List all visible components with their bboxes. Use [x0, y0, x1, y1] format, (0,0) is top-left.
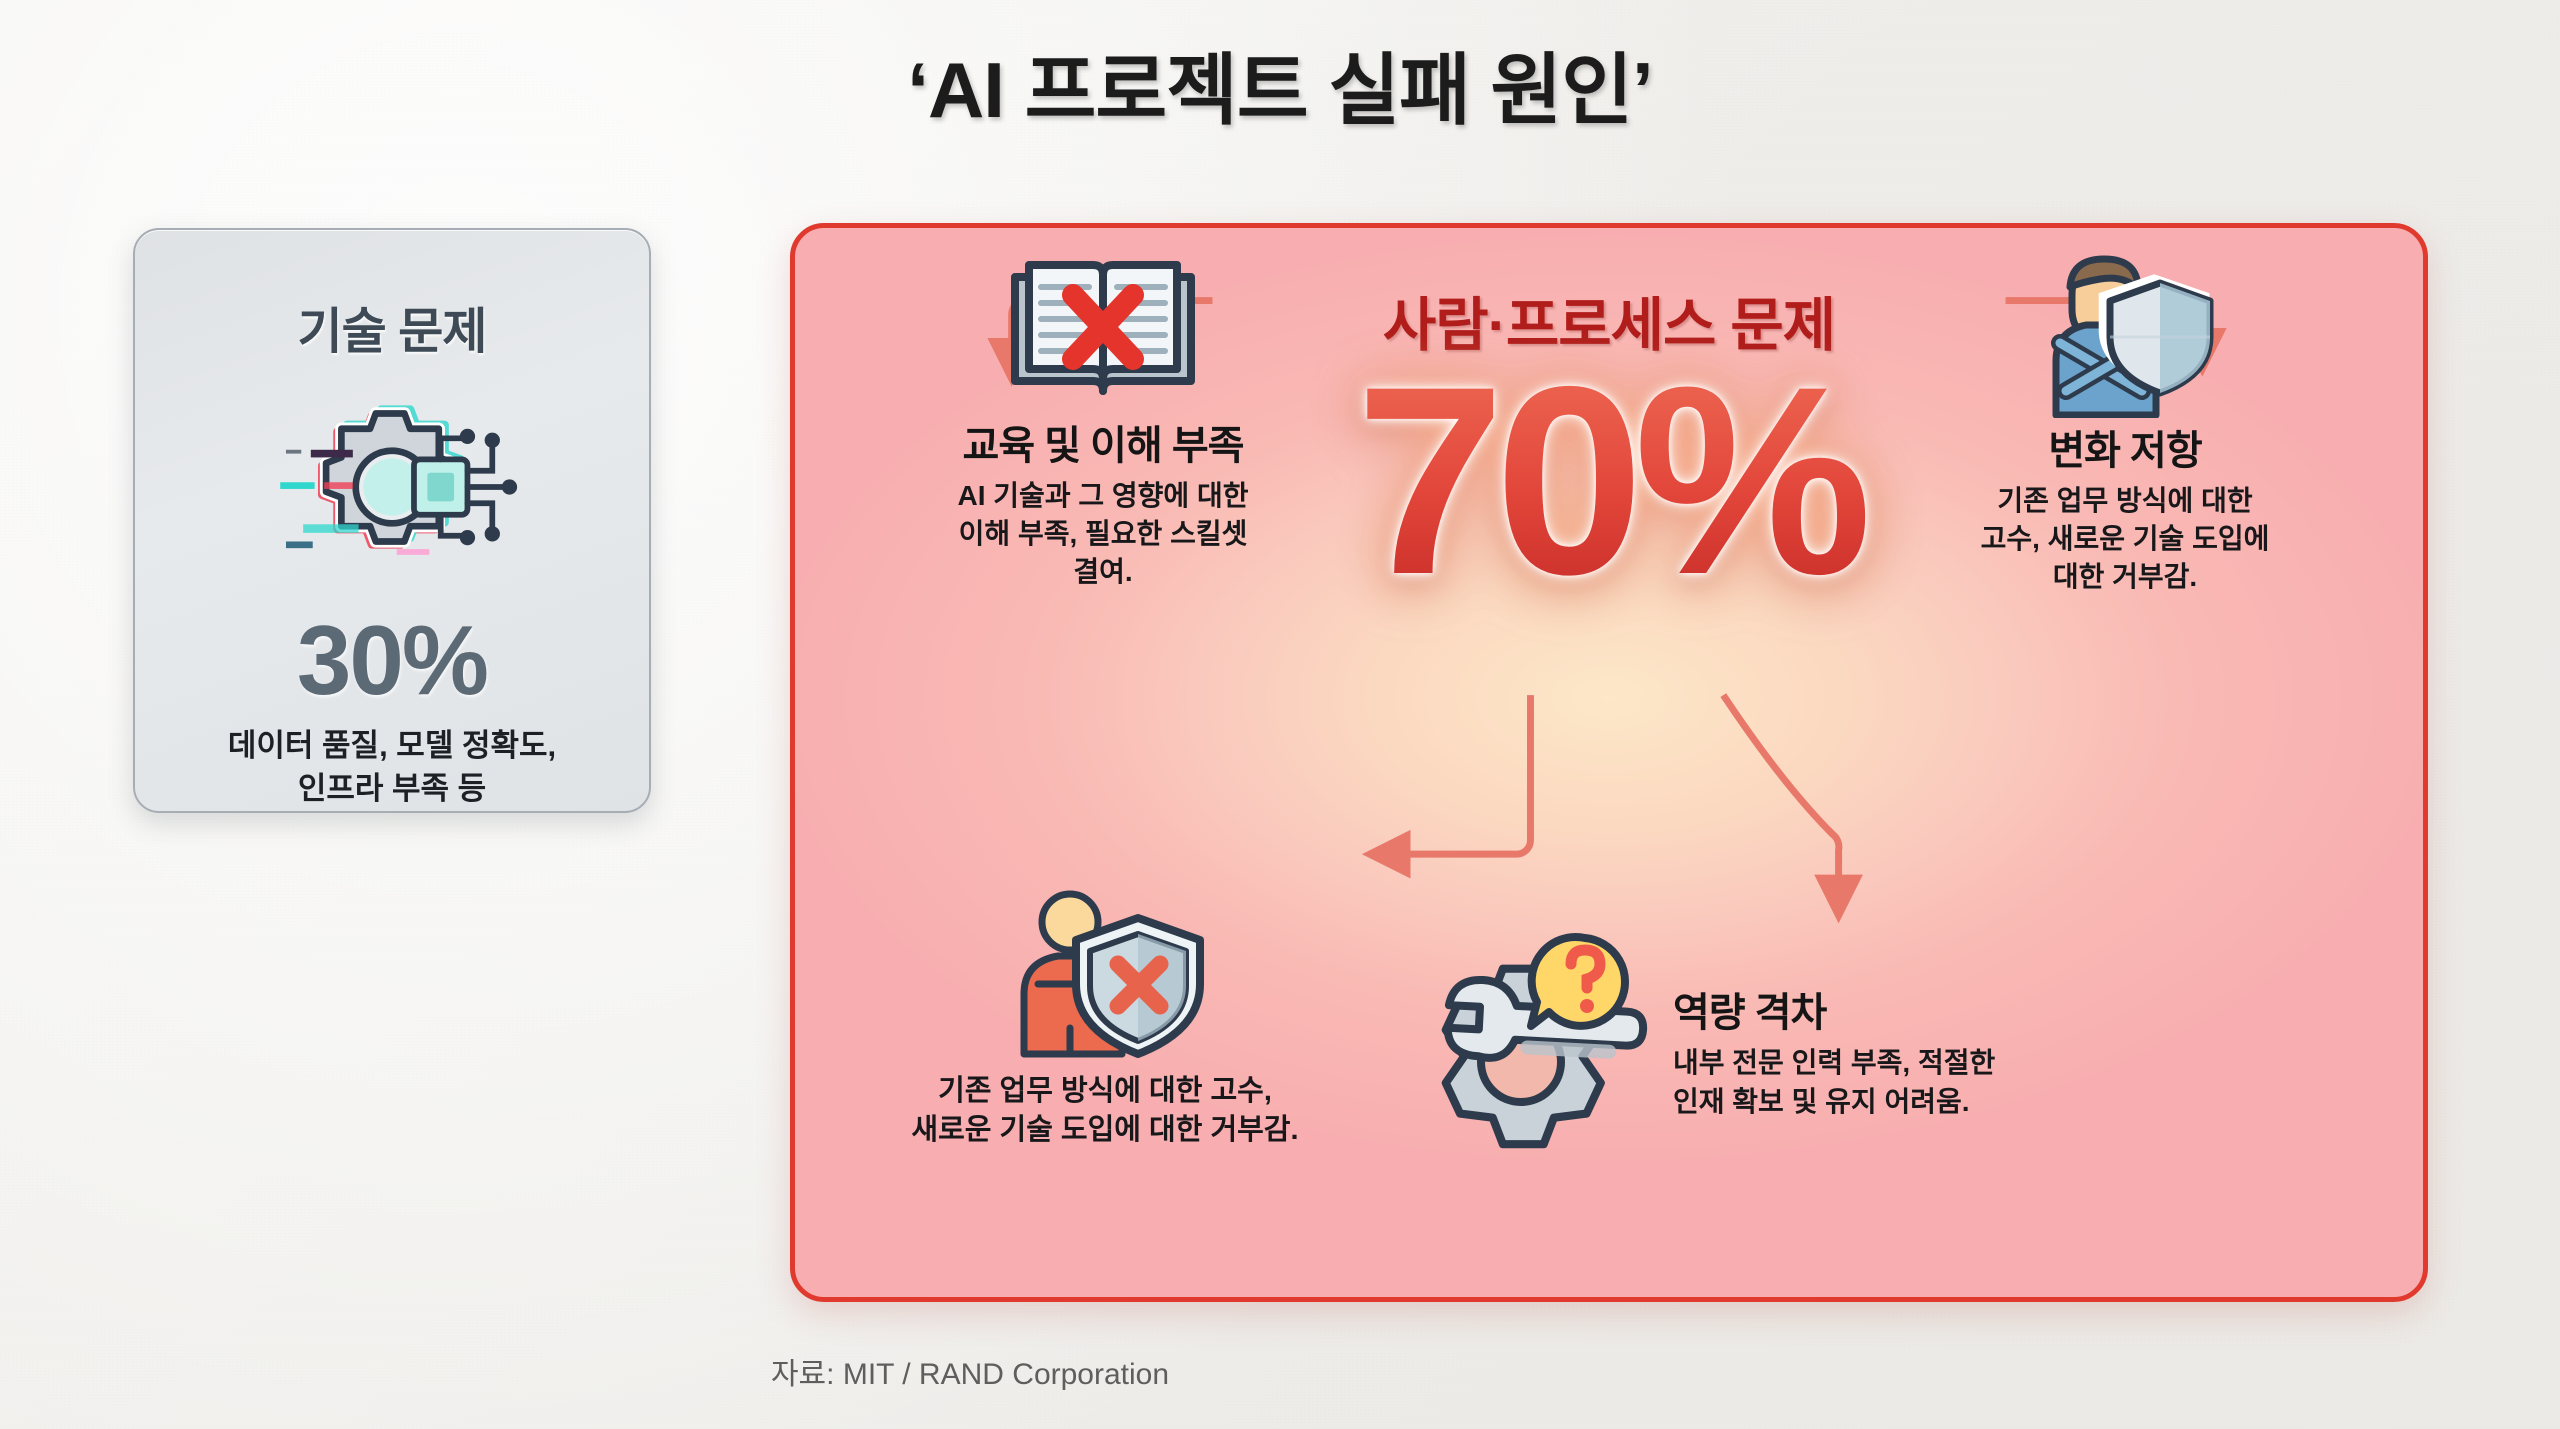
person-crossed-arms-shield-icon: [2030, 243, 2220, 418]
node-education: 교육 및 이해 부족 AI 기술과 그 영향에 대한 이해 부족, 필요한 스킬…: [823, 243, 1383, 591]
change-resistance-title: 변화 저항: [1835, 418, 2415, 476]
education-body: AI 기술과 그 영향에 대한 이해 부족, 필요한 스킬셋 결여.: [823, 477, 1383, 591]
tech-card-title: 기술 문제: [298, 292, 487, 363]
glitch-gear-circuit-icon: [247, 381, 537, 605]
tech-percent: 30%: [297, 611, 487, 709]
change-resistance-body: 기존 업무 방식에 대한 고수, 새로운 기술 도입에 대한 거부감.: [1835, 482, 2415, 596]
person-shield-x-icon: [998, 888, 1213, 1058]
page-title: ‘AI 프로젝트 실패 원인’: [0, 28, 2560, 140]
source-note: 자료: MIT / RAND Corporation: [0, 1349, 1940, 1393]
status-quo-body: 기존 업무 방식에 대한 고수, 새로운 기술 도입에 대한 거부감.: [795, 1072, 1415, 1151]
change-resistance-icon-wrap: [1835, 243, 2415, 418]
node-status-quo: 기존 업무 방식에 대한 고수, 새로운 기술 도입에 대한 거부감.: [795, 888, 1415, 1151]
open-book-x-icon: [1003, 243, 1203, 413]
education-title: 교육 및 이해 부족: [823, 413, 1383, 471]
arrow-to-skill-gap: [1723, 695, 1839, 904]
gear-wrench-question-icon: [1415, 918, 1665, 1153]
skill-gap-row: 역량 격차 내부 전문 인력 부족, 적절한 인재 확보 및 유지 어려움.: [1415, 918, 2415, 1153]
tech-problem-card: 기술 문제 30% 데이터 품: [133, 228, 651, 813]
status-quo-icon-wrap: [795, 888, 1415, 1058]
node-skill-gap: 역량 격차 내부 전문 인력 부족, 적절한 인재 확보 및 유지 어려움.: [1415, 918, 2415, 1153]
education-icon-wrap: [823, 243, 1383, 413]
people-process-panel: 사람·프로세스 문제 70% 교육 및 이해 부족 AI 기술과 그 영향에 대…: [790, 223, 2428, 1302]
node-change-resistance: 변화 저항 기존 업무 방식에 대한 고수, 새로운 기술 도입에 대한 거부감…: [1835, 243, 2415, 596]
arrow-to-status-quo: [1381, 695, 1530, 854]
skill-gap-title: 역량 격차: [1673, 980, 1995, 1038]
tech-description: 데이터 품질, 모델 정확도, 인프라 부족 등: [228, 725, 556, 811]
skill-gap-body: 내부 전문 인력 부족, 적절한 인재 확보 및 유지 어려움.: [1673, 1044, 1995, 1120]
skill-gap-text: 역량 격차 내부 전문 인력 부족, 적절한 인재 확보 및 유지 어려움.: [1673, 950, 1995, 1120]
